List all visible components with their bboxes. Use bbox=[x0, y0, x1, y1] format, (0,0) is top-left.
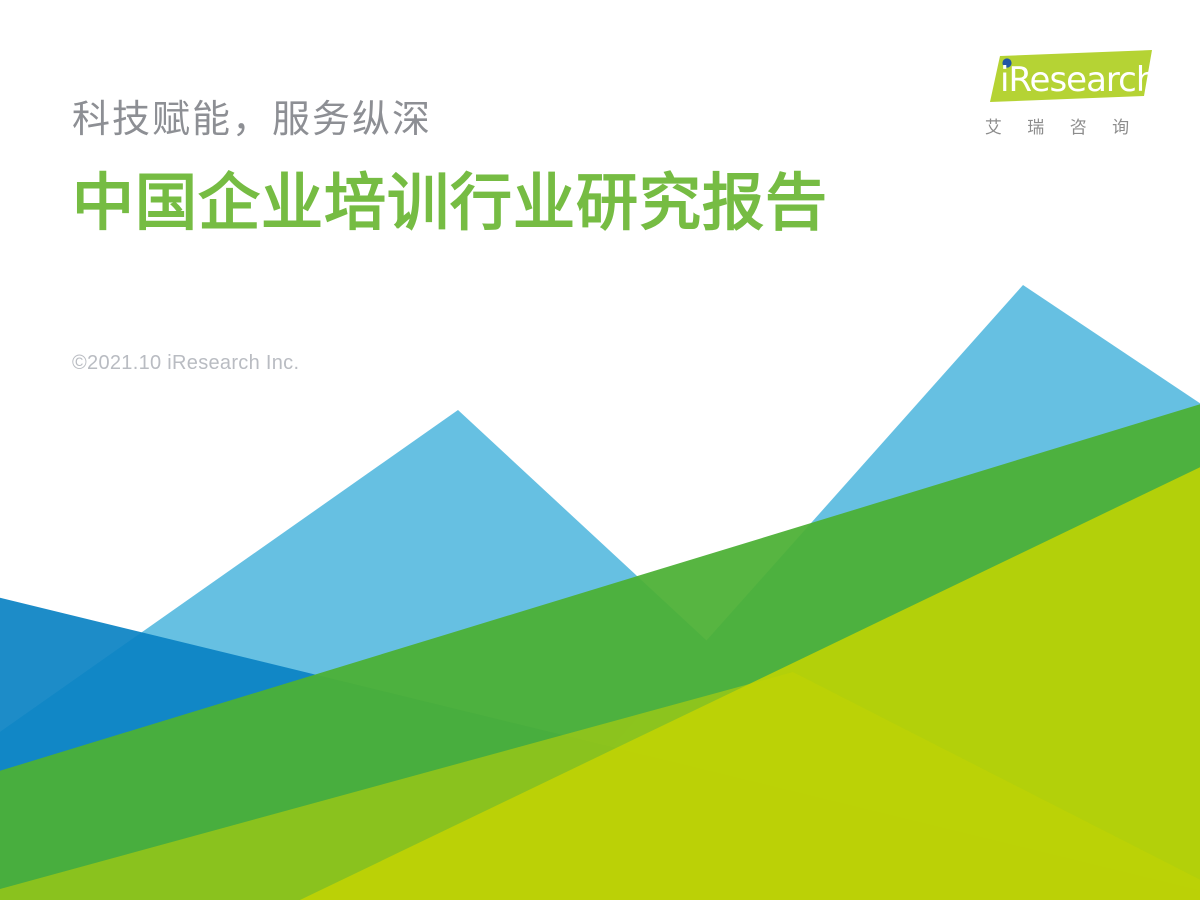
report-cover-page: 科技赋能，服务纵深 中国企业培训行业研究报告 ©2021.10 iResearc… bbox=[0, 0, 1200, 900]
copyright-notice: ©2021.10 iResearch Inc. bbox=[72, 352, 299, 375]
iresearch-wordmark-mark: iResearch bbox=[984, 48, 1152, 104]
iresearch-logo-icon: iResearch bbox=[984, 48, 1152, 104]
title-block: 科技赋能，服务纵深 中国企业培训行业研究报告 bbox=[72, 96, 828, 240]
report-subtitle: 科技赋能，服务纵深 bbox=[72, 96, 828, 144]
page-title: 中国企业培训行业研究报告 bbox=[72, 166, 828, 240]
iresearch-logo: iResearch 艾 瑞 咨 询 bbox=[962, 48, 1152, 138]
logo-wordmark-text: iResearch bbox=[1000, 60, 1152, 100]
iresearch-chinese-name: 艾 瑞 咨 询 bbox=[962, 113, 1152, 138]
